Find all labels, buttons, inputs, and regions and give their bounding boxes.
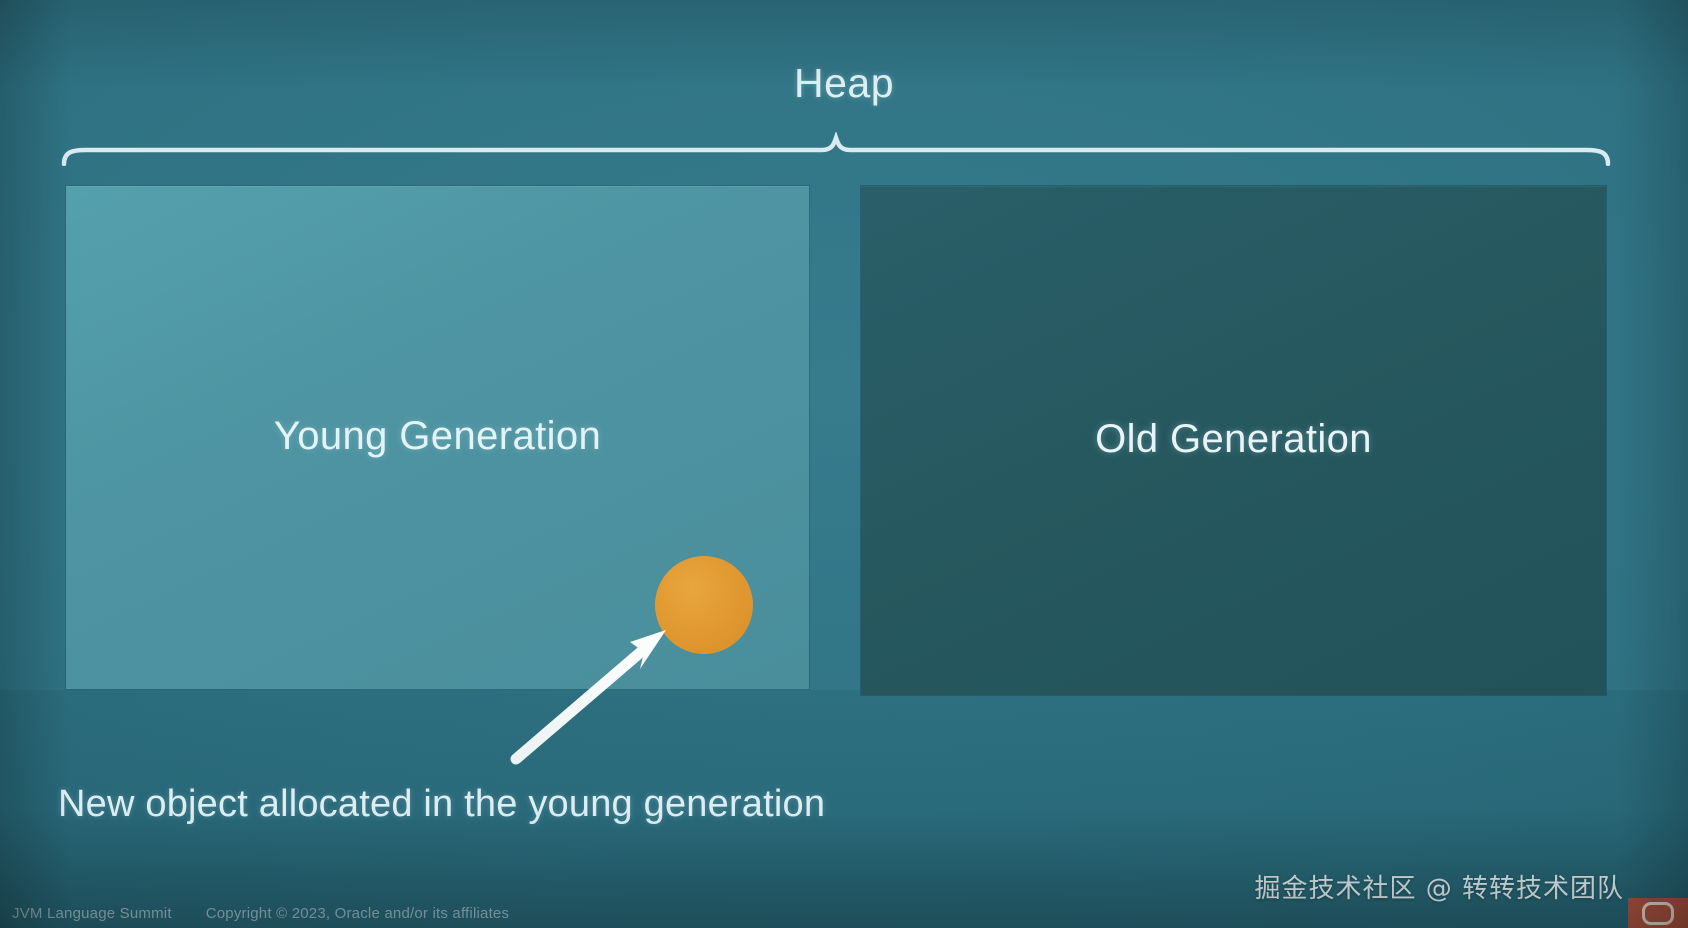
caption-text: New object allocated in the young genera… [58,783,825,826]
watermark-text: 掘金技术社区 @ 转转技术团队 [1254,868,1624,905]
footer-copyright: Copyright © 2023, Oracle and/or its affi… [206,905,509,922]
arrow-icon [470,620,700,780]
ring-icon [1642,902,1674,925]
young-generation-label: Young Generation [274,414,601,459]
page-title: Heap [0,60,1688,107]
brace-icon [60,132,1612,166]
old-generation-label: Old Generation [1095,417,1372,462]
allocation-arrow [470,620,700,780]
slide-footer: JVM Language Summit Copyright © 2023, Or… [12,905,509,922]
footer-event-name: JVM Language Summit [12,905,172,922]
watermark-logo [1628,898,1688,928]
heap-brace [60,132,1612,166]
old-generation-region: Old Generation [861,186,1606,695]
presentation-slide: Heap Young Generation Old Generation [0,0,1688,928]
